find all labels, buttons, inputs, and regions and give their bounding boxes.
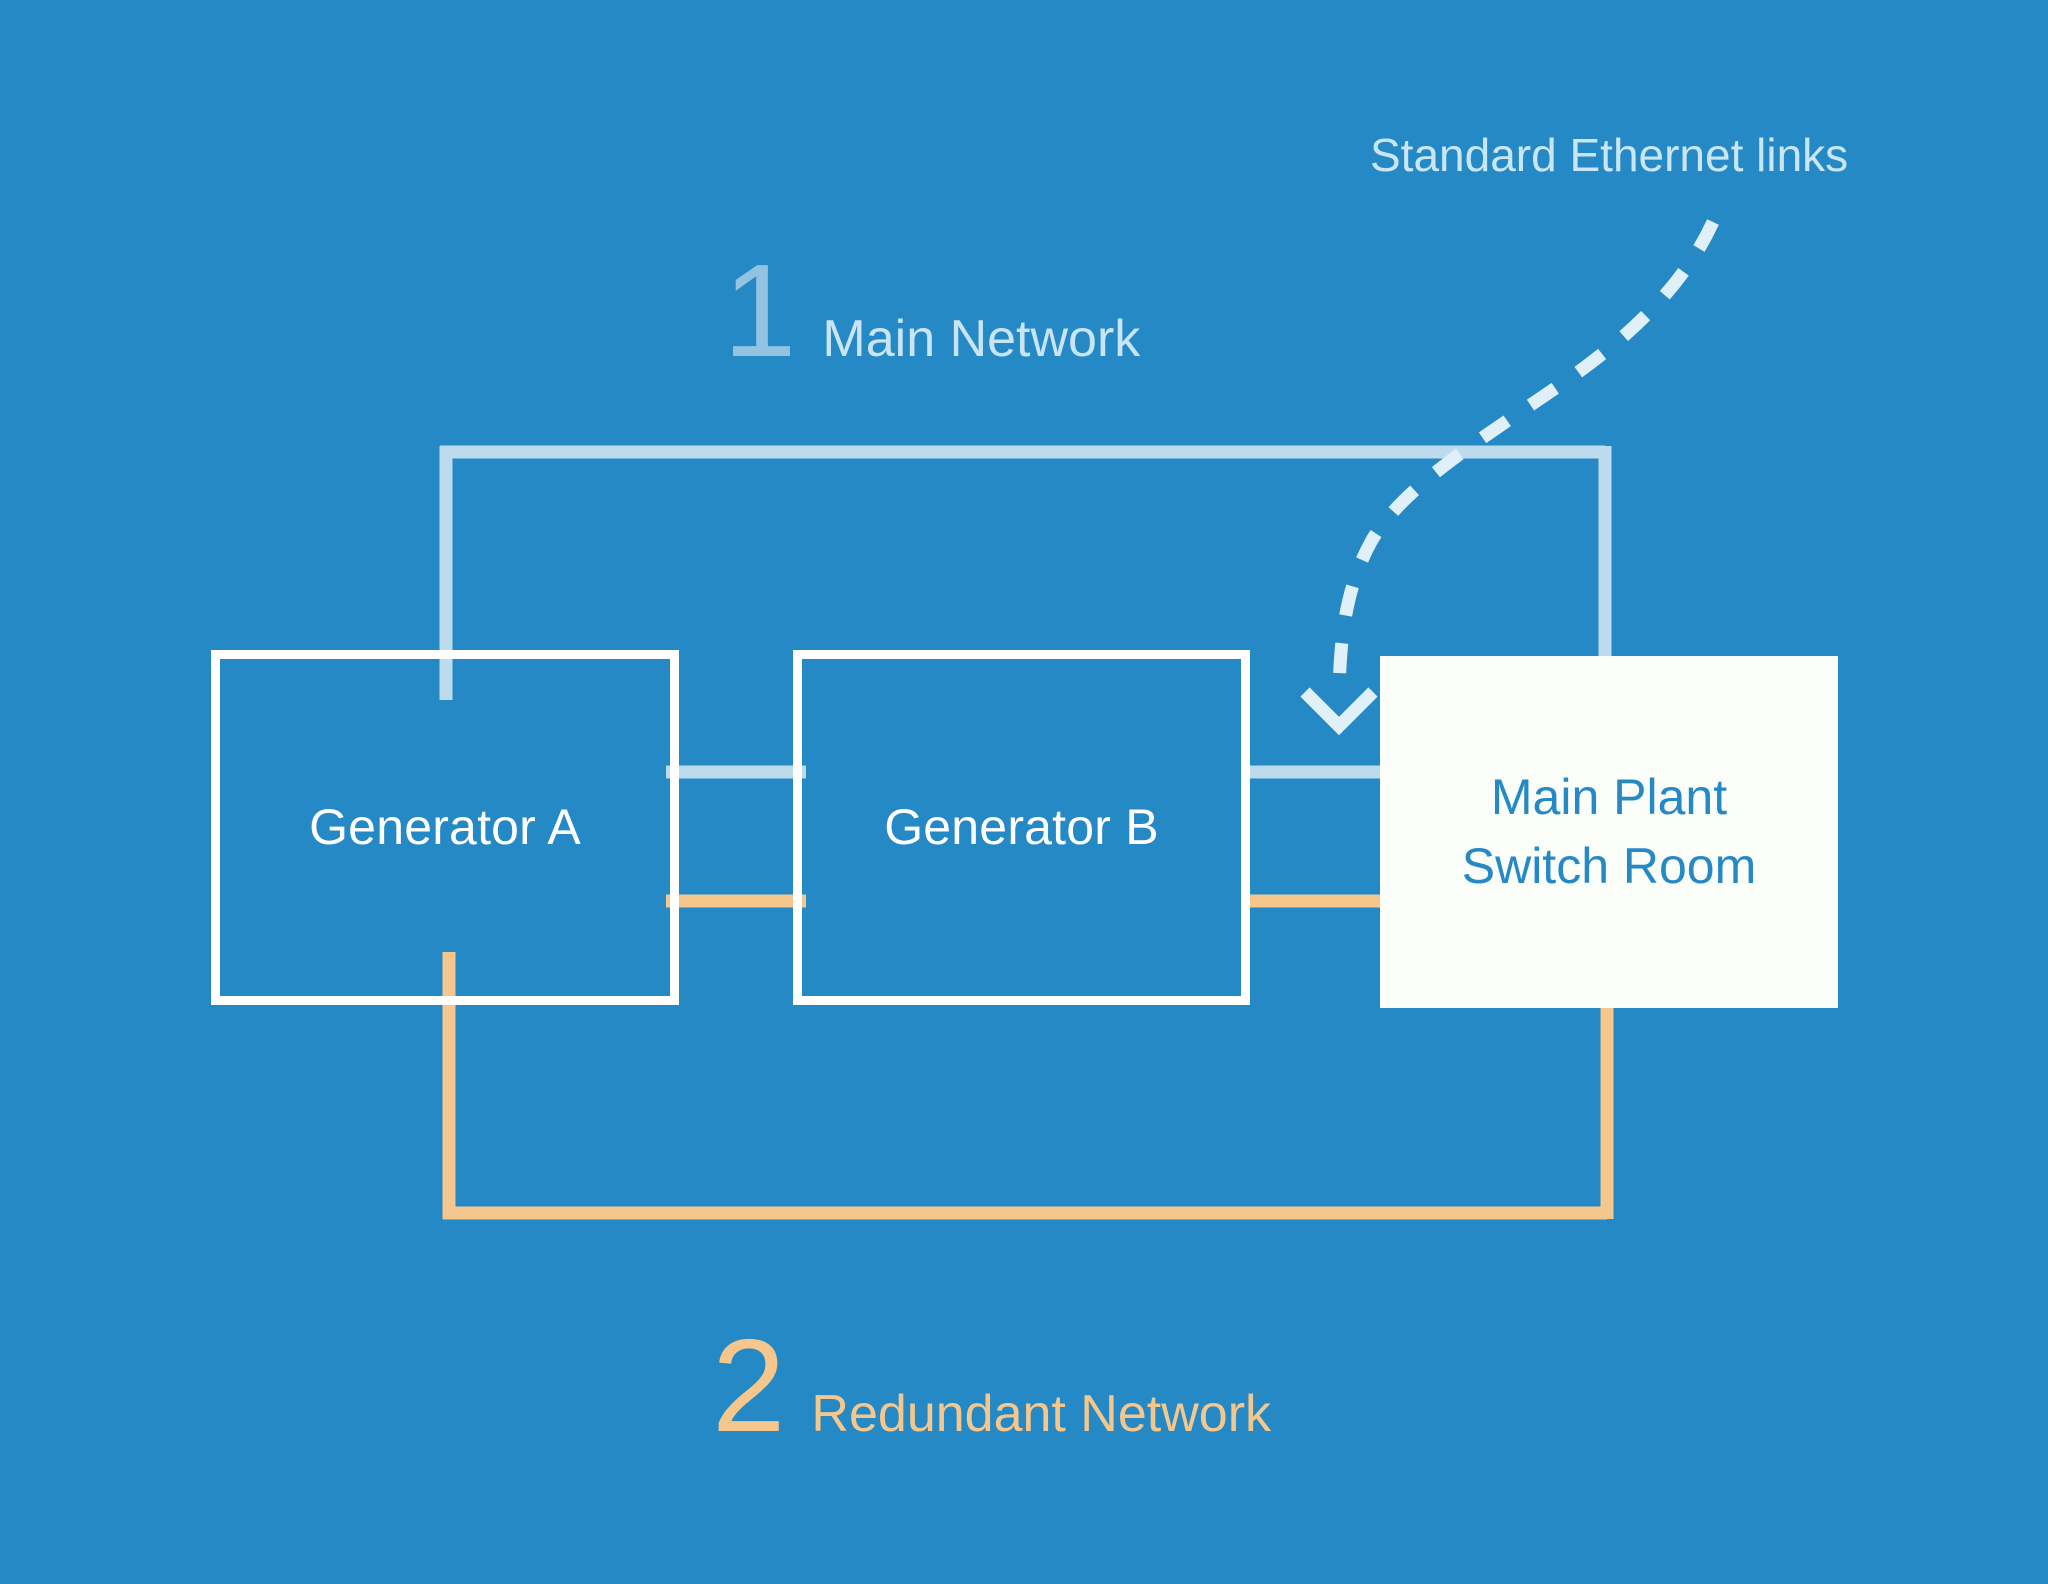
callout-dashed-curve-icon xyxy=(1339,222,1713,696)
node-main-plant-switch-room-label: Main Plant Switch Room xyxy=(1462,763,1757,901)
ethernet-callout-arrow xyxy=(1305,222,1713,726)
node-generator-a-label: Generator A xyxy=(309,799,581,857)
node-main-plant-switch-room[interactable]: Main Plant Switch Room xyxy=(1380,656,1838,1008)
node-switch-room-label-line2: Switch Room xyxy=(1462,838,1757,894)
legend-redundant-network-number: 2 xyxy=(712,1330,785,1442)
legend-redundant-network: 2 Redundant Network xyxy=(712,1330,1271,1444)
node-generator-b-label: Generator B xyxy=(884,799,1159,857)
node-switch-room-label-line1: Main Plant xyxy=(1491,769,1727,825)
node-generator-a[interactable]: Generator A xyxy=(211,650,679,1005)
diagram-canvas: Generator A Generator B Main Plant Switc… xyxy=(0,0,2048,1584)
callout-arrowhead-icon xyxy=(1305,692,1373,726)
legend-main-network-number: 1 xyxy=(723,255,796,367)
legend-main-network: 1 Main Network xyxy=(723,255,1140,369)
legend-redundant-network-label: Redundant Network xyxy=(811,1384,1271,1444)
callout-standard-ethernet-links: Standard Ethernet links xyxy=(1370,128,1848,182)
legend-main-network-label: Main Network xyxy=(822,309,1140,369)
node-generator-b[interactable]: Generator B xyxy=(793,650,1250,1005)
